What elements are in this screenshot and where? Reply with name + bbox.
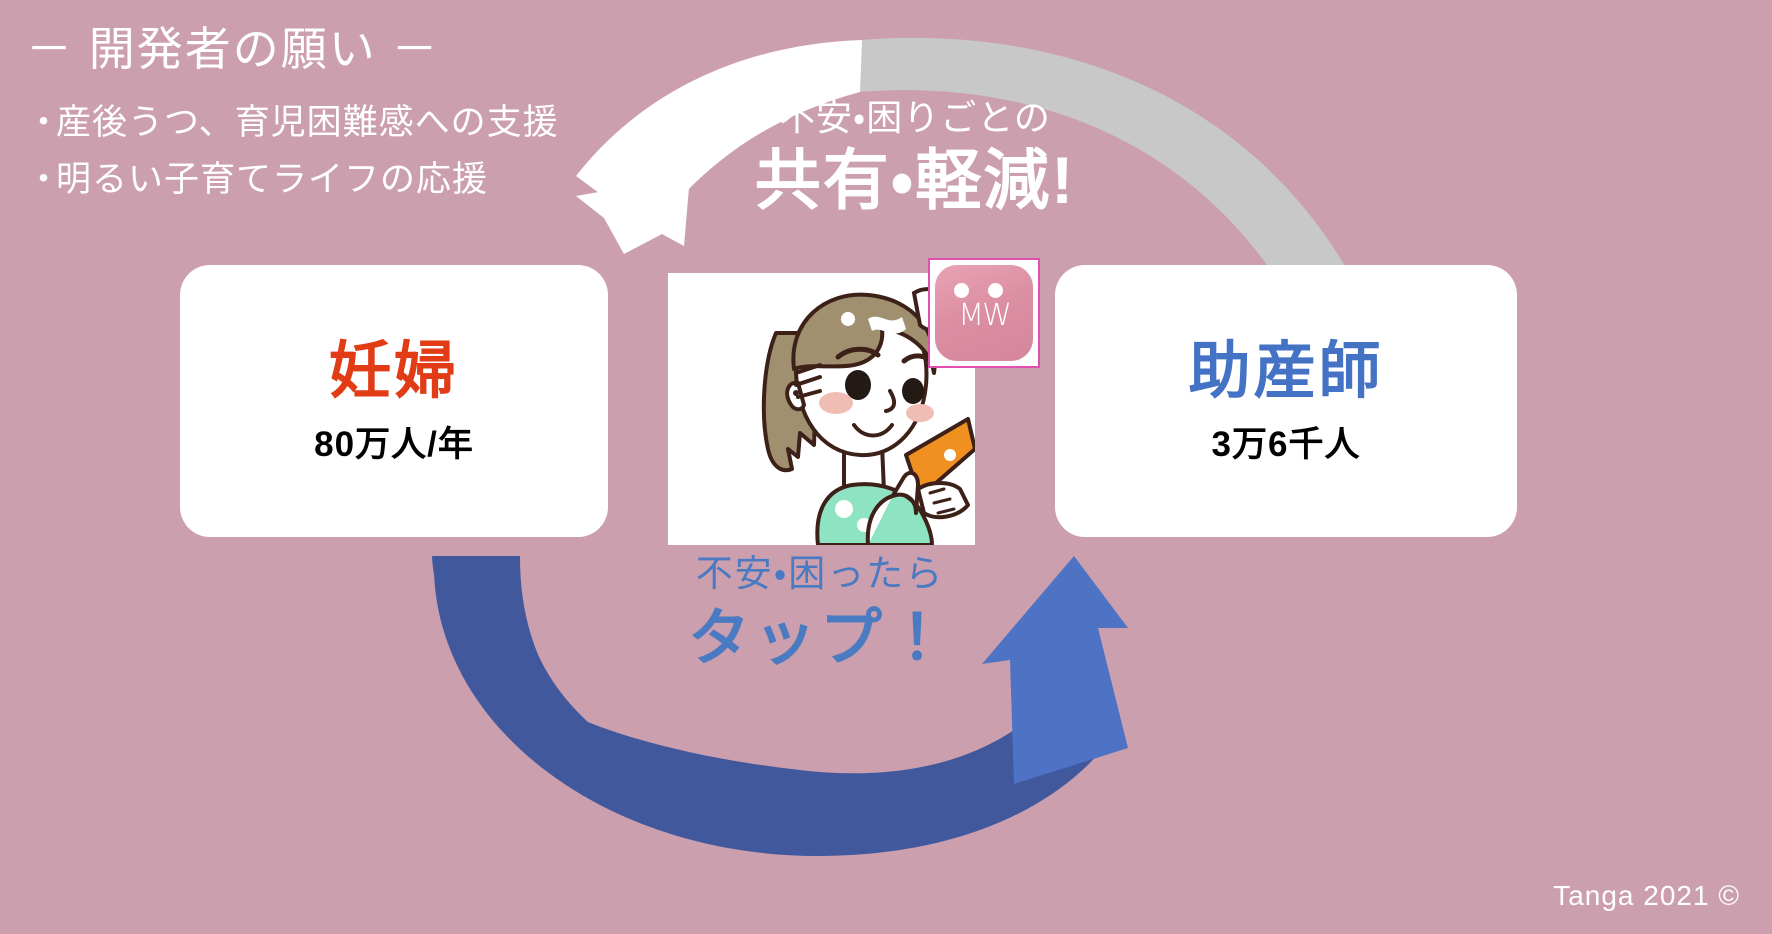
top-callout-subtitle: 不安・困りごとの xyxy=(705,95,1125,140)
bottom-callout-headline: タップ！ xyxy=(600,602,1040,676)
app-icon-eye-left-icon xyxy=(954,283,969,298)
list-item: ・ 明るい子育てライフの応援 xyxy=(26,152,746,209)
app-icon-eye-right-icon xyxy=(988,283,1003,298)
app-icon-body: MW xyxy=(935,265,1033,361)
card-midwife-count: 3万6千人 xyxy=(1212,427,1361,462)
page-title: － 開発者の願い － xyxy=(26,22,746,77)
app-icon-mamawith[interactable]: MW xyxy=(928,258,1040,368)
bullet-marker-icon: ・ xyxy=(26,152,56,209)
list-item: ・ 産後うつ、育児困難感への支援 xyxy=(26,95,746,152)
bullet-text: 産後うつ、育児困難感への支援 xyxy=(56,95,559,152)
slide-canvas: － 開発者の願い － ・ 産後うつ、育児困難感への支援 ・ 明るい子育てライフの… xyxy=(0,0,1772,934)
card-pregnant-title: 妊婦 xyxy=(329,341,459,403)
bullet-marker-icon: ・ xyxy=(26,95,56,152)
wish-bullet-list: ・ 産後うつ、育児困難感への支援 ・ 明るい子育てライフの応援 xyxy=(26,95,746,208)
app-icon-label: MW xyxy=(935,298,1033,333)
card-midwife-title: 助産師 xyxy=(1188,341,1383,403)
bottom-callout: 不安・困ったら タップ！ xyxy=(600,552,1040,677)
card-pregnant-women: 妊婦 80万人/年 xyxy=(180,265,608,537)
top-callout: 不安・困りごとの 共有・軽減! xyxy=(705,95,1125,220)
card-midwife: 助産師 3万6千人 xyxy=(1055,265,1517,537)
header-block: － 開発者の願い － ・ 産後うつ、育児困難感への支援 ・ 明るい子育てライフの… xyxy=(26,22,746,209)
copyright-credit: Tanga 2021 © xyxy=(1553,880,1740,912)
bottom-callout-subtitle: 不安・困ったら xyxy=(600,552,1040,596)
bullet-text: 明るい子育てライフの応援 xyxy=(56,152,488,209)
top-callout-headline: 共有・軽減! xyxy=(705,142,1125,220)
card-pregnant-count: 80万人/年 xyxy=(314,427,474,462)
